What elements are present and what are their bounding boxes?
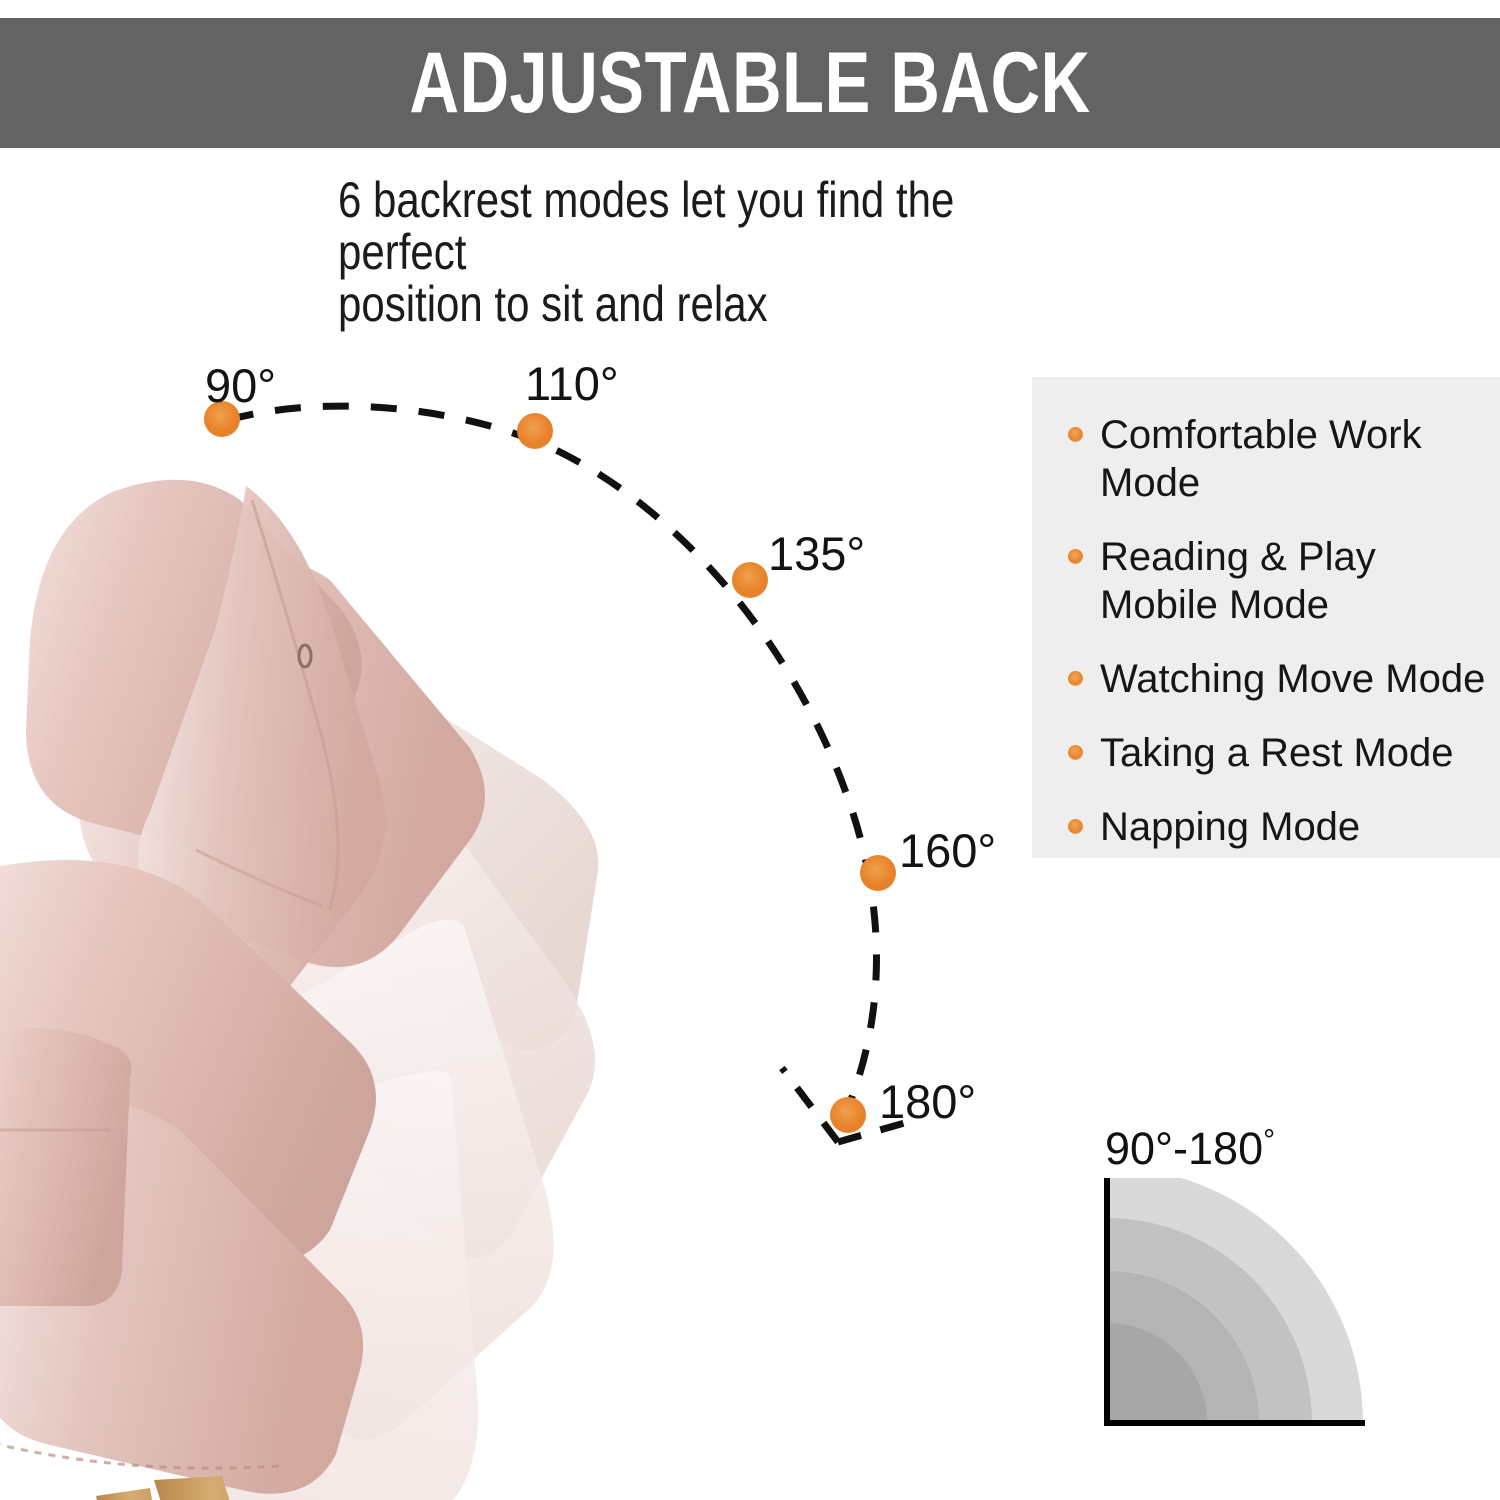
list-item: Napping Mode bbox=[1068, 803, 1490, 851]
list-item: Reading & Play Mobile Mode bbox=[1068, 533, 1490, 629]
list-item: Taking a Rest Mode bbox=[1068, 729, 1490, 777]
modes-list: Comfortable Work Mode Reading & Play Mob… bbox=[1068, 411, 1490, 877]
chair-svg bbox=[0, 430, 790, 1500]
angle-range-diagram: 90°-180° bbox=[1095, 1118, 1395, 1448]
angle-range-label: 90°-180° bbox=[1105, 1118, 1275, 1171]
angle-label-110: 110° bbox=[525, 360, 619, 407]
mode-label: Comfortable Work Mode bbox=[1100, 411, 1490, 507]
angle-label-180: 180° bbox=[879, 1078, 976, 1125]
bullet-dot-icon bbox=[1068, 671, 1083, 686]
angle-label-90: 90° bbox=[205, 362, 276, 409]
mode-label: Taking a Rest Mode bbox=[1100, 729, 1454, 777]
angle-range-label-main: 90°-180 bbox=[1105, 1123, 1263, 1174]
bullet-dot-icon bbox=[1068, 745, 1083, 760]
angle-dot-180 bbox=[830, 1097, 866, 1133]
mode-label: Napping Mode bbox=[1100, 803, 1360, 851]
mode-label: Watching Move Mode bbox=[1100, 655, 1485, 703]
infographic-page: ADJUSTABLE BACK 6 backrest modes let you… bbox=[0, 0, 1500, 1500]
bullet-dot-icon bbox=[1068, 549, 1083, 564]
bullet-dot-icon bbox=[1068, 819, 1083, 834]
angle-label-160: 160° bbox=[899, 827, 996, 874]
page-title: ADJUSTABLE BACK bbox=[150, 18, 1350, 148]
bullet-dot-icon bbox=[1068, 427, 1083, 442]
chair-illustration bbox=[0, 430, 790, 1500]
degree-superscript-icon: ° bbox=[1263, 1124, 1275, 1157]
header-band: ADJUSTABLE BACK bbox=[0, 18, 1500, 148]
list-item: Comfortable Work Mode bbox=[1068, 411, 1490, 507]
subtitle-text: 6 backrest modes let you find the perfec… bbox=[338, 174, 1077, 330]
quadrant-svg bbox=[1095, 1178, 1385, 1458]
angle-dot-160 bbox=[860, 855, 896, 891]
mode-label: Reading & Play Mobile Mode bbox=[1100, 533, 1376, 629]
list-item: Watching Move Mode bbox=[1068, 655, 1490, 703]
modes-panel: Comfortable Work Mode Reading & Play Mob… bbox=[1032, 377, 1500, 858]
